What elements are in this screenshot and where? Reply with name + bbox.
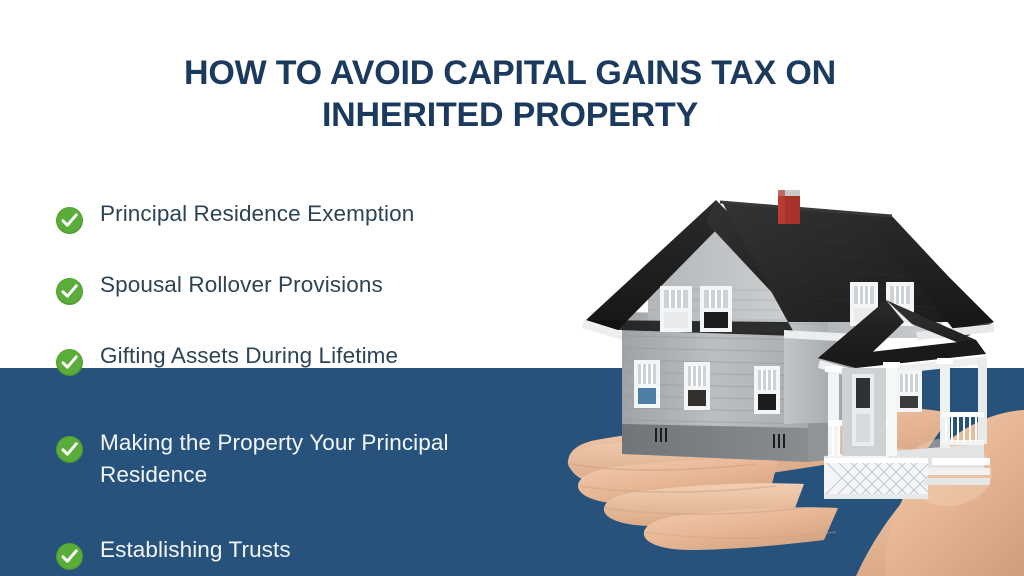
window xyxy=(754,366,780,414)
check-circle-icon xyxy=(56,436,83,463)
benefits-checklist: Principal Residence Exemption Spousal Ro… xyxy=(56,198,556,576)
model-house-graphic xyxy=(582,190,994,499)
check-circle-icon xyxy=(56,278,83,305)
chimney xyxy=(778,190,800,224)
list-item: Spousal Rollover Provisions xyxy=(56,269,556,313)
page-title-line-2: INHERITED PROPERTY xyxy=(80,94,940,136)
window xyxy=(684,362,710,410)
list-item-label: Spousal Rollover Provisions xyxy=(100,269,556,301)
list-item-label: Principal Residence Exemption xyxy=(100,198,556,230)
page-title-line-1: HOW TO AVOID CAPITAL GAINS TAX ON xyxy=(80,52,940,94)
window xyxy=(896,370,922,412)
window xyxy=(700,286,732,332)
lattice-skirting xyxy=(824,458,928,499)
hand-holding-model-house-photo xyxy=(556,172,1024,576)
check-circle-icon xyxy=(56,543,83,570)
check-circle-icon xyxy=(56,349,83,376)
infographic-slide: HOW TO AVOID CAPITAL GAINS TAX ON INHERI… xyxy=(0,0,1024,576)
list-item: Establishing Trusts xyxy=(56,534,556,576)
window xyxy=(634,360,660,408)
window xyxy=(660,286,692,332)
page-title: HOW TO AVOID CAPITAL GAINS TAX ON INHERI… xyxy=(80,52,940,136)
list-item: Making the Property Your Principal Resid… xyxy=(56,427,556,491)
list-item: Gifting Assets During Lifetime xyxy=(56,340,556,384)
check-circle-icon xyxy=(56,207,83,234)
list-item-label: Making the Property Your Principal Resid… xyxy=(100,427,556,491)
list-item-label: Establishing Trusts xyxy=(100,534,556,566)
list-item-label: Gifting Assets During Lifetime xyxy=(100,340,556,372)
list-item: Principal Residence Exemption xyxy=(56,198,556,242)
